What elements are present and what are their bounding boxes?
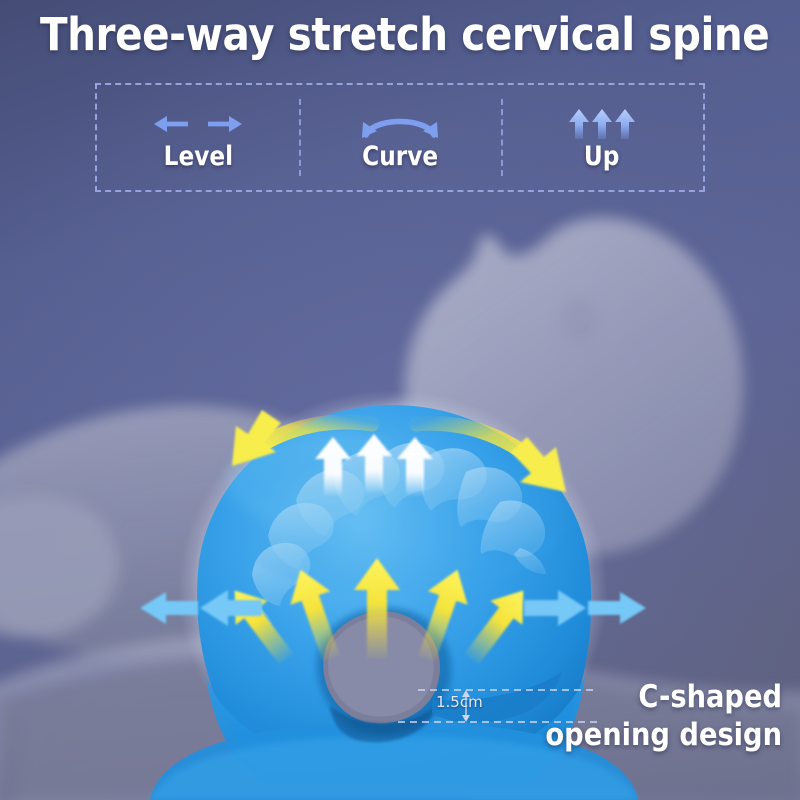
caption-line-1: C-shaped	[492, 678, 782, 716]
feature-label-curve: Curve	[362, 142, 438, 172]
dimension-label: 1.5cm	[436, 693, 483, 711]
feature-label-level: Level	[163, 142, 232, 172]
left-right-arrows-icon	[150, 107, 246, 141]
caption-block: C-shaped opening design	[452, 678, 782, 754]
yellow-fan-arrows	[219, 558, 540, 671]
feature-label-up: Up	[584, 142, 619, 172]
infographic-canvas: Three-way stretch cervical spine Level	[0, 0, 800, 800]
curved-double-arrow-icon	[352, 107, 448, 141]
page-title: Three-way stretch cervical spine	[40, 8, 760, 62]
feature-item-curve[interactable]: Curve	[299, 85, 501, 190]
feature-highlights-box: Level Curve	[95, 83, 705, 192]
caption-line-2: opening design	[492, 716, 782, 754]
blue-side-arrows	[140, 590, 646, 626]
feature-item-level[interactable]: Level	[97, 85, 299, 190]
three-up-arrows-icon	[559, 107, 645, 141]
feature-item-up[interactable]: Up	[501, 85, 703, 190]
yellow-sweep-arrows	[232, 410, 566, 492]
white-up-arrows	[315, 434, 433, 496]
